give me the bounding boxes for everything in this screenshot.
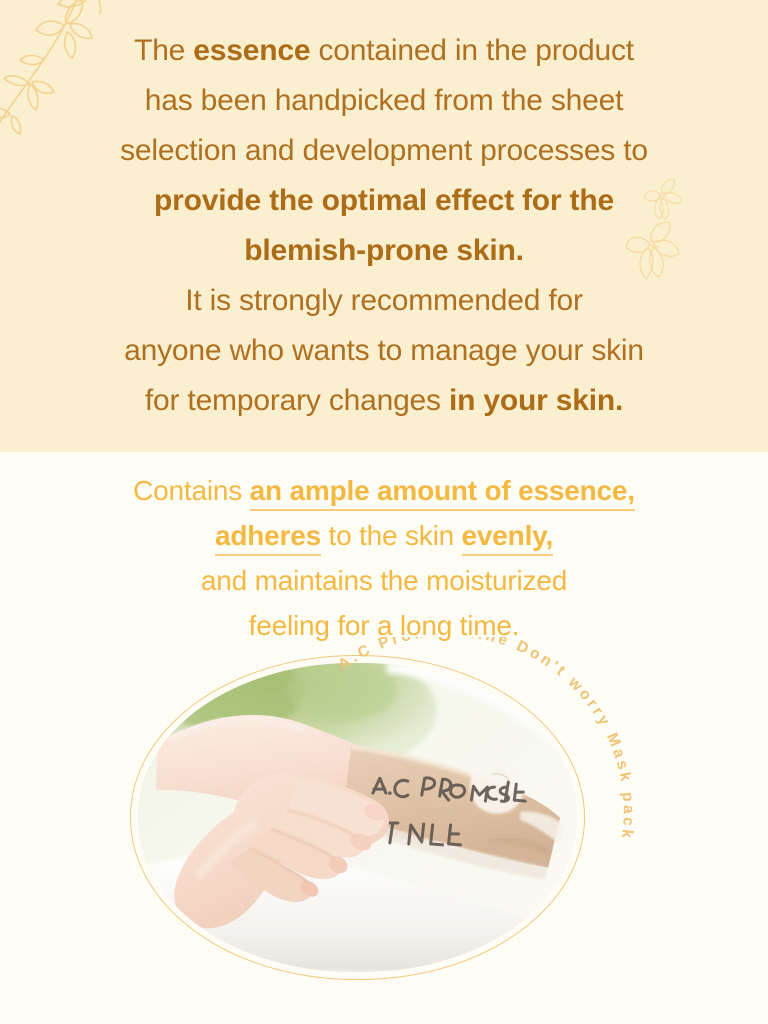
intro-copy: The essence contained in the product has…: [0, 26, 768, 426]
intro-section: The essence contained in the product has…: [0, 0, 768, 452]
intro-line-6: It is strongly recommended for: [0, 276, 768, 326]
emph-adheres: adheres: [215, 520, 321, 556]
benefits-line-1: Contains an ample amount of essence,: [0, 468, 768, 513]
intro-line-8: for temporary changes in your skin.: [0, 376, 768, 426]
benefits-copy: Contains an ample amount of essence, adh…: [0, 468, 768, 648]
benefits-line-3: and maintains the moisturized: [0, 558, 768, 603]
emph-blemish-prone: blemish-prone skin.: [244, 234, 524, 267]
intro-line-7: anyone who wants to manage your skin: [0, 326, 768, 376]
product-demo-photo-block: A.C Promise line Don't worry Mask pack: [130, 655, 640, 980]
intro-line-3: selection and development processes to: [0, 126, 768, 176]
intro-line-4: provide the optimal effect for the: [0, 176, 768, 226]
emph-essence: essence: [193, 34, 310, 67]
ring-brand-text: A.C Promise line Don't worry Mask pack: [280, 637, 640, 997]
intro-line-5: blemish-prone skin.: [0, 226, 768, 276]
emph-ample-essence: an ample amount of essence,: [250, 475, 635, 511]
intro-line-1: The essence contained in the product: [0, 26, 768, 76]
intro-line-2: has been handpicked from the sheet: [0, 76, 768, 126]
ring-brand-label: A.C Promise line Don't worry Mask pack: [335, 637, 637, 842]
emph-in-your-skin: in your skin.: [449, 384, 623, 417]
emph-optimal-effect: provide the optimal effect for the: [154, 184, 614, 217]
benefits-line-2: adheres to the skin evenly,: [0, 513, 768, 558]
emph-evenly: evenly,: [462, 520, 553, 556]
